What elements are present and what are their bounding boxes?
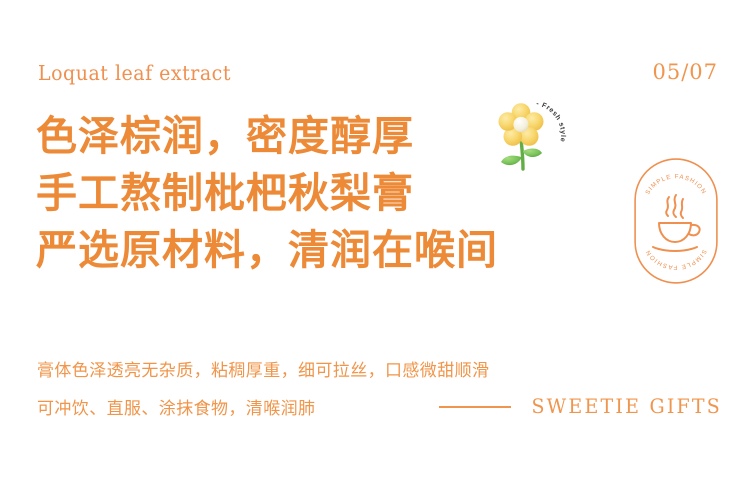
headline-line-3: 严选原材料，清润在喉间 xyxy=(36,222,498,279)
signature: SWEETIE GIFTS xyxy=(439,396,722,418)
headline-line-2: 手工熬制枇杷秋梨膏 xyxy=(36,165,498,222)
signature-label: SWEETIE GIFTS xyxy=(531,396,722,419)
flower-sticker: - Fresh style - xyxy=(494,99,568,175)
page-number: 05/07 xyxy=(652,60,718,84)
headline-line-1: 色泽棕润，密度醇厚 xyxy=(36,108,498,165)
status-badge: SIMPLE FASHION SIMPLE FASHION xyxy=(634,158,718,284)
eyebrow-label: Loquat leaf extract xyxy=(38,62,231,85)
seal-top-text: SIMPLE FASHION xyxy=(644,173,708,196)
signature-rule xyxy=(439,406,511,408)
slide-canvas: Loquat leaf extract 05/07 色泽棕润，密度醇厚 手工熬制… xyxy=(0,0,750,478)
body-copy: 膏体色泽透亮无杂质，粘稠厚重，细可拉丝，口感微甜顺滑 可冲饮、直服、涂抹食物，清… xyxy=(37,352,489,428)
body-copy-line-2: 可冲饮、直服、涂抹食物，清喉润肺 xyxy=(37,390,489,428)
body-copy-line-1: 膏体色泽透亮无杂质，粘稠厚重，细可拉丝，口感微甜顺滑 xyxy=(37,352,489,390)
page-title: 色泽棕润，密度醇厚 手工熬制枇杷秋梨膏 严选原材料，清润在喉间 xyxy=(36,108,498,279)
seal-badge-icon: SIMPLE FASHION SIMPLE FASHION xyxy=(634,158,718,284)
flower-icon xyxy=(494,99,568,175)
teacup-icon xyxy=(653,195,700,251)
